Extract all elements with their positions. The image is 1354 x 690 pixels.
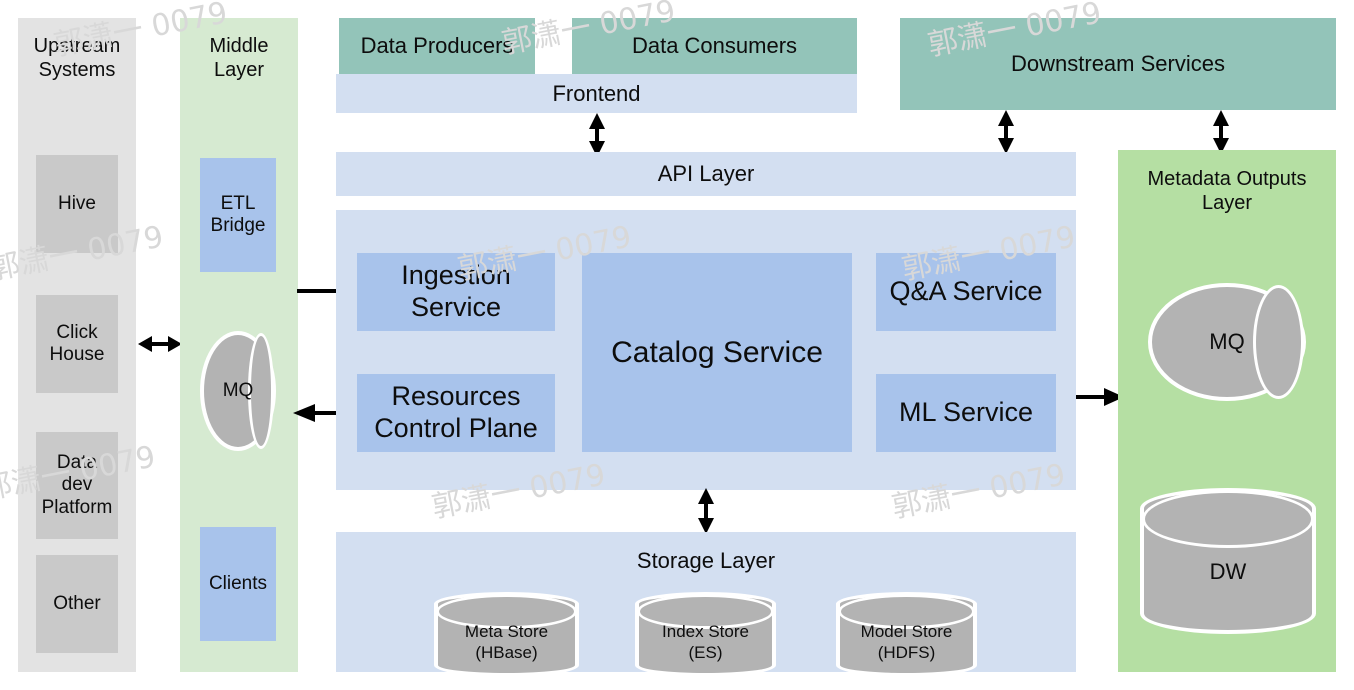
model-store-label: Model Store (HDFS) [861,606,953,662]
frontend-box[interactable]: Frontend [336,74,857,113]
middle-mq-label: MQ [223,380,254,402]
upstream-item-other[interactable]: Other [36,555,118,653]
upstream-item-data-dev-platform[interactable]: Data dev Platform [36,432,118,539]
metadata-dw-cylinder[interactable]: DW [1140,488,1316,634]
middle-item-clients[interactable]: Clients [200,527,276,641]
metadata-mq-label: MQ [1209,329,1244,355]
index-store-label: Index Store (ES) [662,606,749,662]
upstream-item-hive[interactable]: Hive [36,155,118,253]
resources-control-plane-box[interactable]: Resources Control Plane [357,374,555,452]
downstream-services-box[interactable]: Downstream Services [900,18,1336,110]
middle-item-etl-bridge[interactable]: ETL Bridge [200,158,276,272]
architecture-diagram: 郭潇一 0079 郭潇一 0079 郭潇一 0079 郭潇一 0079 郭潇一 … [0,0,1354,690]
metadata-dw-label: DW [1210,537,1247,585]
storage-layer-title: Storage Layer [336,545,1076,577]
upstream-systems-title: Upstream Systems [18,30,136,88]
upstream-item-clickhouse[interactable]: Click House [36,295,118,393]
arrow-upstream-middle-bidirectional [138,331,182,357]
arrow-core-storage-bidirectional [693,488,719,534]
catalog-service-box[interactable]: Catalog Service [582,253,852,452]
ingestion-service-box[interactable]: Ingestion Service [357,253,555,331]
middle-layer-title: Middle Layer [180,30,298,88]
arrow-core-to-metadata-outputs [1076,384,1124,410]
storage-meta-store-cylinder[interactable]: Meta Store (HBase) [434,592,579,677]
middle-item-mq-cylinder[interactable]: MQ [200,331,276,451]
qa-service-box[interactable]: Q&A Service [876,253,1056,331]
arrow-downstream-api-bidirectional [993,110,1019,154]
api-layer-box[interactable]: API Layer [336,152,1076,196]
metadata-mq-cylinder[interactable]: MQ [1148,283,1306,401]
arrow-downstream-metadata-bidirectional [1208,110,1234,154]
meta-store-label: Meta Store (HBase) [465,606,548,662]
storage-model-store-cylinder[interactable]: Model Store (HDFS) [836,592,977,677]
storage-index-store-cylinder[interactable]: Index Store (ES) [635,592,776,677]
arrow-frontend-api-bidirectional [584,113,610,157]
metadata-outputs-title: Metadata Outputs Layer [1118,163,1336,221]
data-consumers-box[interactable]: Data Consumers [572,18,857,74]
ml-service-box[interactable]: ML Service [876,374,1056,452]
data-producers-box[interactable]: Data Producers [339,18,535,74]
